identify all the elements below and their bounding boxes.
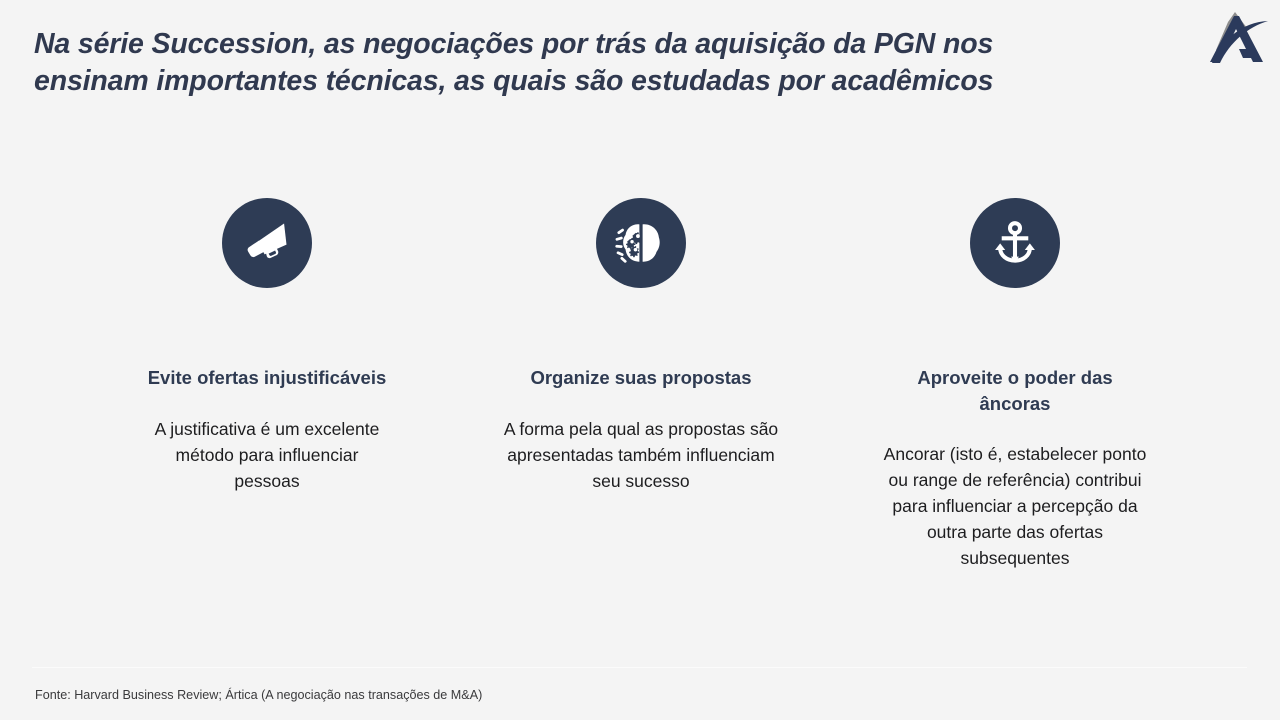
card-poder-ancoras: Aproveite o poder das âncoras Ancorar (i…	[828, 198, 1202, 571]
page-title: Na série Succession, as negociações por …	[34, 26, 1109, 100]
slide-canvas: Na série Succession, as negociações por …	[0, 0, 1280, 720]
card-organize-propostas: Organize suas propostas A forma pela qua…	[454, 198, 828, 571]
card-evite-ofertas: Evite ofertas injustificáveis A justific…	[80, 198, 454, 571]
anchor-icon	[970, 198, 1060, 288]
artica-logo	[1198, 6, 1272, 68]
card-title: Organize suas propostas	[506, 365, 776, 391]
card-title: Aproveite o poder das âncoras	[880, 365, 1150, 416]
footer-divider	[32, 667, 1247, 668]
card-body: A justificativa é um excelente método pa…	[142, 416, 392, 494]
megaphone-icon	[222, 198, 312, 288]
card-body: Ancorar (isto é, estabelecer ponto ou ra…	[875, 441, 1155, 571]
card-title: Evite ofertas injustificáveis	[132, 365, 402, 391]
brain-gears-icon	[596, 198, 686, 288]
card-body: A forma pela qual as propostas são apres…	[500, 416, 782, 494]
source-footnote: Fonte: Harvard Business Review; Ártica (…	[35, 686, 595, 704]
cards-row: Evite ofertas injustificáveis A justific…	[0, 198, 1280, 571]
